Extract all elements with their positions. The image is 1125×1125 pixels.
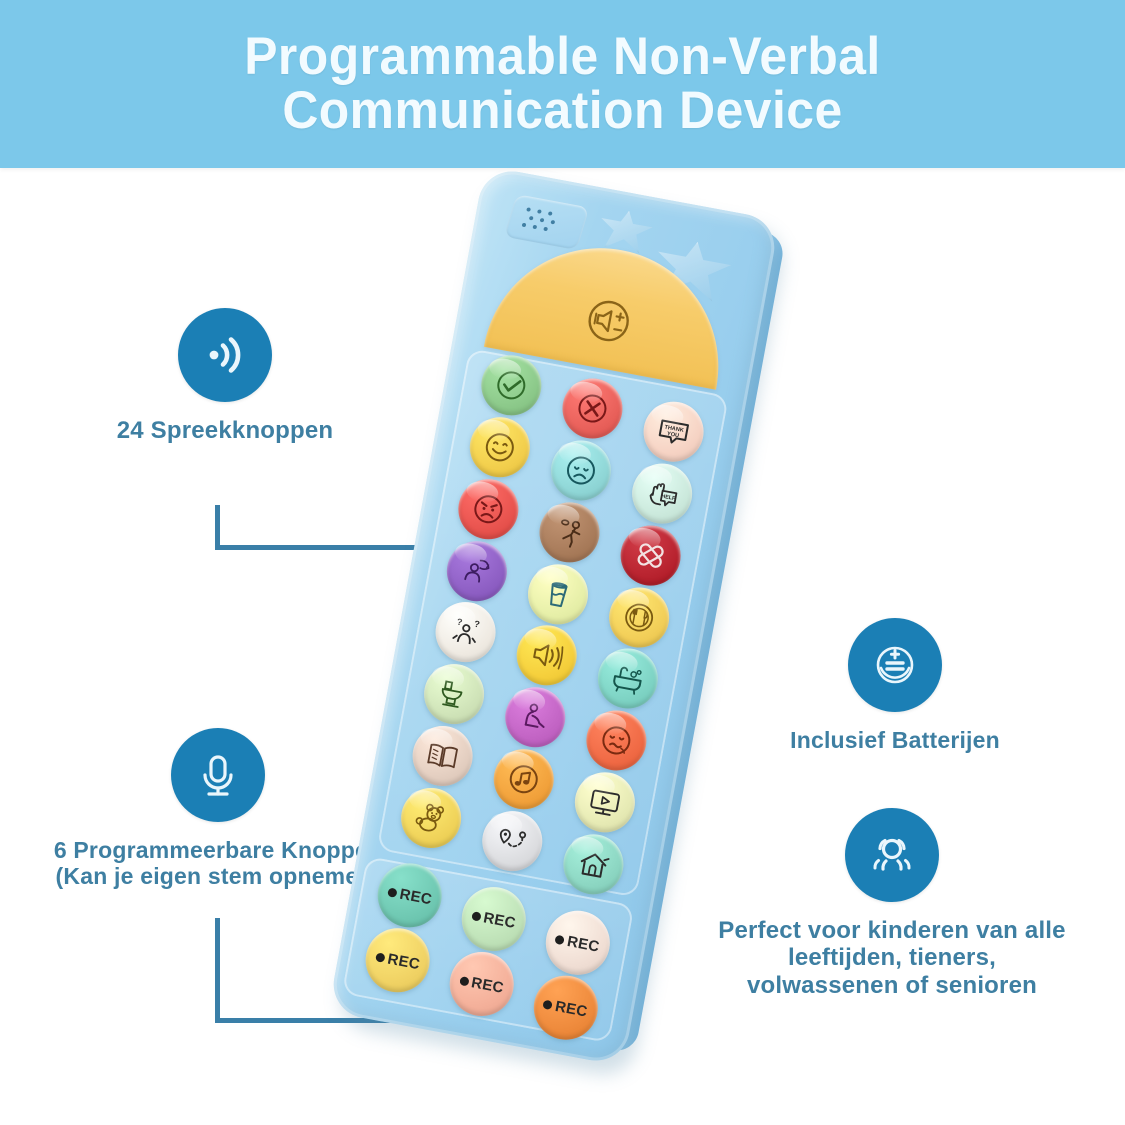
record-button-6[interactable]: REC	[528, 970, 603, 1045]
sound-wave-icon	[178, 308, 272, 402]
bandage-icon	[631, 536, 671, 576]
svg-text:?: ?	[473, 619, 480, 630]
record-button-3[interactable]: REC	[540, 905, 615, 980]
book-icon	[423, 736, 463, 776]
house-icon	[574, 844, 614, 884]
record-dot-icon	[387, 887, 397, 897]
people-group-icon	[845, 808, 939, 902]
loud-noise-icon	[527, 636, 567, 676]
record-button-label: REC	[482, 909, 517, 932]
pain-person-icon	[550, 512, 590, 552]
nightmare-icon: z	[457, 551, 497, 591]
speech-button-drink[interactable]	[523, 559, 593, 629]
record-button-cell: REC	[349, 920, 446, 1001]
speech-button-help[interactable]: HELP	[627, 459, 697, 529]
map-route-icon	[493, 821, 533, 861]
happy-face-icon	[480, 428, 520, 468]
microphone-icon	[171, 728, 265, 822]
record-button-5[interactable]: REC	[444, 947, 519, 1022]
drink-glass-icon	[538, 574, 578, 614]
speech-button-happy[interactable]	[465, 412, 535, 482]
teddy-bear-icon	[411, 798, 451, 838]
speech-button-sad[interactable]	[546, 436, 616, 506]
toilet-icon	[434, 674, 474, 714]
tv-icon	[585, 782, 625, 822]
speech-button-toy[interactable]	[396, 783, 466, 853]
speech-button-hurt[interactable]	[616, 521, 686, 591]
feature-label: Inclusief Batterijen	[790, 727, 1000, 753]
svg-text:?: ?	[456, 617, 463, 628]
speech-button-yes[interactable]	[476, 351, 546, 421]
thank-you-icon: THANKYOU	[654, 412, 694, 452]
svg-text:YOU: YOU	[666, 431, 679, 439]
record-button-2[interactable]: REC	[456, 882, 531, 957]
svg-text:z: z	[485, 562, 490, 570]
speech-button-pain[interactable]	[535, 497, 605, 567]
check-icon	[491, 366, 531, 406]
cross-icon	[573, 389, 613, 429]
record-button-label: REC	[554, 997, 589, 1020]
speech-button-noise[interactable]	[512, 621, 582, 691]
speech-button-book[interactable]	[408, 721, 478, 791]
angry-face-icon	[469, 489, 509, 529]
record-button-label: REC	[470, 974, 505, 997]
speech-button-angry[interactable]	[453, 474, 523, 544]
sad-face-icon	[561, 451, 601, 491]
feature-speak-buttons: 24 Spreekknoppen	[95, 308, 355, 444]
speech-button-question[interactable]: ??	[431, 598, 501, 668]
speech-button-food[interactable]	[604, 582, 674, 652]
feature-batteries-included: Inclusief Batterijen	[770, 618, 1020, 753]
header-banner: Programmable Non-Verbal Communication De…	[0, 0, 1125, 168]
record-dot-icon	[375, 952, 385, 962]
speech-button-bad-dream[interactable]: z	[442, 536, 512, 606]
record-dot-icon	[459, 976, 469, 986]
record-button-label: REC	[398, 885, 433, 908]
page-title: Programmable Non-Verbal Communication De…	[34, 30, 1092, 138]
speech-button-thank-you[interactable]: THANKYOU	[639, 397, 709, 467]
speech-button-no[interactable]	[557, 374, 627, 444]
record-dot-icon	[555, 934, 565, 944]
record-button-label: REC	[386, 950, 421, 973]
speaker-grille	[504, 194, 589, 250]
device: THANKYOUHELPz?? RECRECRECRECRECREC	[328, 166, 780, 1066]
product-device-image: THANKYOUHELPz?? RECRECRECRECRECREC	[352, 178, 792, 1078]
record-button-label: REC	[566, 933, 601, 956]
record-dot-icon	[471, 911, 481, 921]
question-person-icon: ??	[446, 613, 486, 653]
speech-button-tv[interactable]	[570, 767, 640, 837]
food-plate-icon	[619, 597, 659, 637]
record-dot-icon	[543, 999, 553, 1009]
feature-label: 6 Programmeerbare Knoppen (Kan je eigen …	[54, 837, 382, 889]
volume-plus-minus-icon	[574, 287, 643, 360]
feature-label: 24 Spreekknoppen	[117, 417, 334, 444]
speech-button-music[interactable]	[489, 744, 559, 814]
record-button-1[interactable]: REC	[373, 858, 448, 933]
battery-plus-minus-icon	[848, 618, 942, 712]
connector-vertical	[215, 505, 220, 550]
speech-button-bath[interactable]	[593, 644, 663, 714]
help-hand-icon: HELP	[642, 474, 682, 514]
record-button-4[interactable]: REC	[361, 923, 436, 998]
record-button-cell: REC	[517, 967, 614, 1048]
speech-button-home[interactable]	[559, 829, 629, 899]
sitting-person-icon	[515, 698, 555, 738]
sick-face-icon	[597, 721, 637, 761]
bathtub-icon	[608, 659, 648, 699]
speech-button-sick[interactable]	[581, 706, 651, 776]
speaker-dots	[520, 207, 572, 239]
feature-programmable-buttons: 6 Programmeerbare Knoppen (Kan je eigen …	[28, 728, 408, 889]
speech-button-toilet[interactable]	[419, 659, 489, 729]
speech-button-sit[interactable]	[500, 682, 570, 752]
infographic-page: Programmable Non-Verbal Communication De…	[0, 0, 1125, 1125]
music-note-icon	[504, 759, 544, 799]
speech-button-go-out[interactable]	[477, 806, 547, 876]
connector-vertical	[215, 918, 220, 1023]
